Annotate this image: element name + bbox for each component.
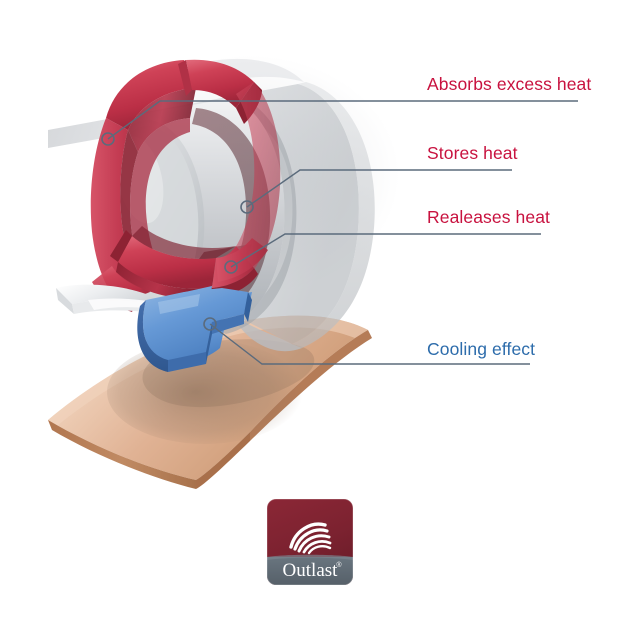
diagram-canvas: Absorbs excess heat Stores heat Realease… bbox=[0, 0, 625, 625]
outlast-logo[interactable]: Outlast ® bbox=[265, 497, 355, 587]
logo-wordmark: Outlast bbox=[283, 560, 339, 581]
callout-label-releases[interactable]: Realeases heat bbox=[427, 209, 550, 227]
callout-label-stores[interactable]: Stores heat bbox=[427, 145, 518, 163]
logo-registered-mark: ® bbox=[336, 561, 342, 569]
outlast-logo-mark: Outlast ® bbox=[265, 497, 355, 587]
callout-label-cooling[interactable]: Cooling effect bbox=[427, 341, 535, 359]
callout-label-absorbs[interactable]: Absorbs excess heat bbox=[427, 76, 591, 94]
